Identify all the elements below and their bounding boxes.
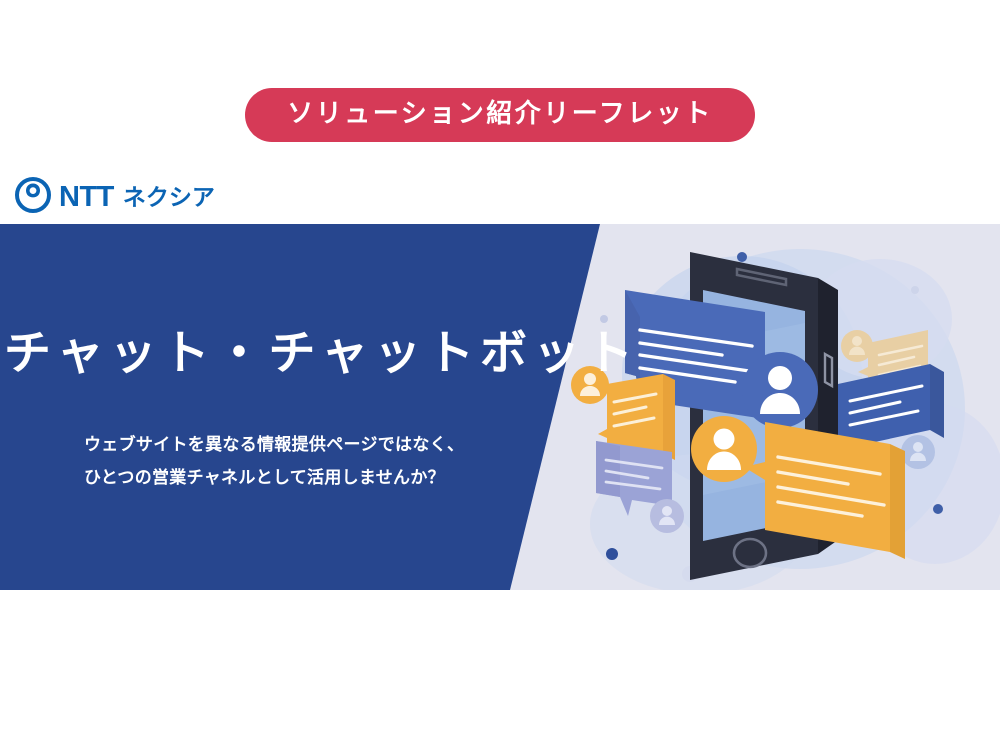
hero-title: チャット・チャットボット (4, 327, 584, 379)
logo-brand-sub-text: ネクシア (123, 186, 215, 209)
logo-brand-text: NTT (59, 183, 114, 212)
leaflet-page: ソリューション紹介リーフレット NTT ネクシア (0, 0, 1000, 750)
badge-row: ソリューション紹介リーフレット (0, 88, 1000, 142)
solution-leaflet-badge: ソリューション紹介リーフレット (245, 88, 754, 142)
hero-subtitle-line-1: ウェブサイトを異なる情報提供ページではなく、 (84, 428, 464, 461)
hero-subtitle-line-2: ひとつの営業チャネルとして活用しませんか？ (84, 461, 464, 494)
hero-text-block: チャット・チャットボット ウェブサイトを異なる情報提供ページではなく、 ひとつの… (0, 224, 600, 590)
hero-subtitle: ウェブサイトを異なる情報提供ページではなく、 ひとつの営業チャネルとして活用しま… (84, 428, 464, 494)
ntt-nexia-logo: NTT ネクシア (14, 176, 215, 219)
ntt-logo-mark (14, 176, 52, 219)
hero-banner: チャット・チャットボット ウェブサイトを異なる情報提供ページではなく、 ひとつの… (0, 224, 1000, 590)
